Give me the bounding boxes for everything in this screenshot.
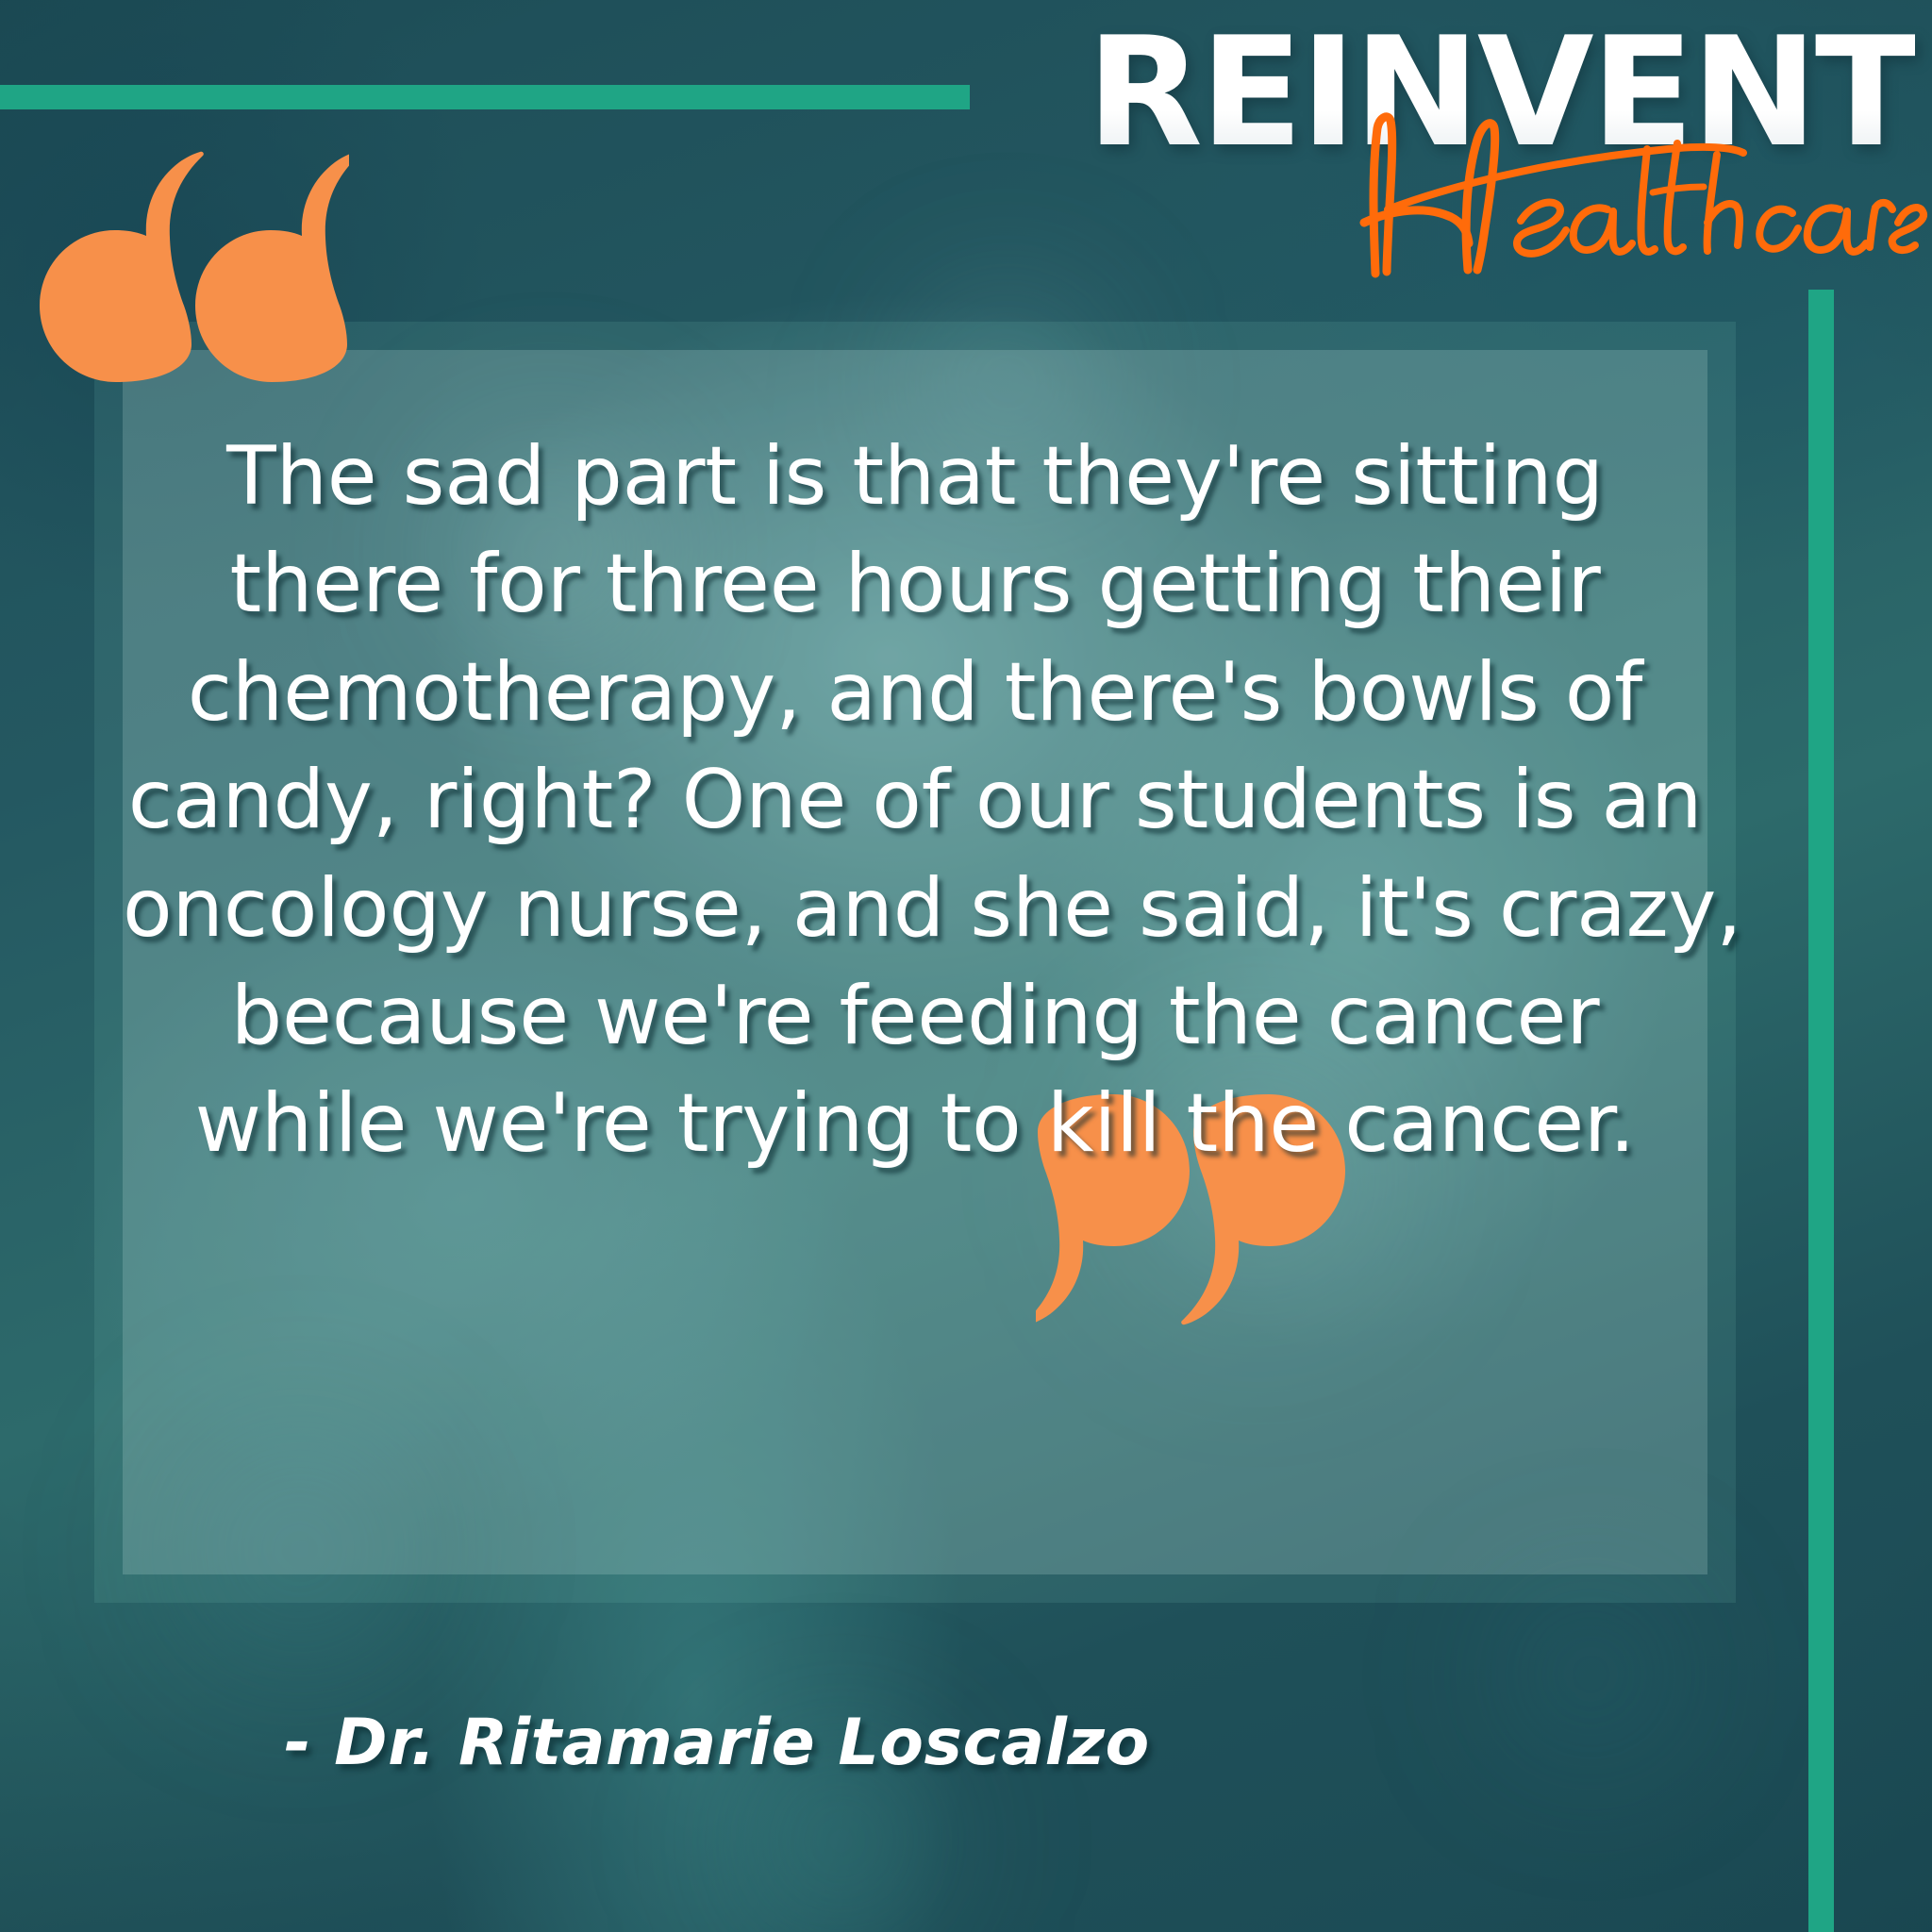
right-green-accent-bar — [1808, 290, 1834, 1932]
quote-line: chemotherapy, and there's bowls of — [123, 639, 1707, 746]
top-green-accent-bar — [0, 85, 970, 109]
brand-logo: REINVENT — [1066, 9, 1932, 283]
quote-graphic-canvas: The sad part is that they're sitting the… — [0, 0, 1932, 1932]
quote-line: candy, right? One of our students is an — [123, 746, 1707, 854]
quote-line: while we're trying to kill the cancer. — [123, 1070, 1707, 1177]
quote-line: The sad part is that they're sitting — [123, 423, 1707, 530]
double-quote-open-icon — [38, 151, 349, 382]
quote-text-block: The sad part is that they're sitting the… — [123, 423, 1707, 1178]
brand-name-script — [1336, 111, 1921, 276]
quote-attribution: - Dr. Ritamarie Loscalzo — [0, 1706, 1434, 1780]
quote-line: because we're feeding the cancer — [123, 962, 1707, 1070]
quote-line: oncology nurse, and she said, it's crazy… — [123, 855, 1707, 962]
quote-line: there for three hours getting their — [123, 530, 1707, 638]
